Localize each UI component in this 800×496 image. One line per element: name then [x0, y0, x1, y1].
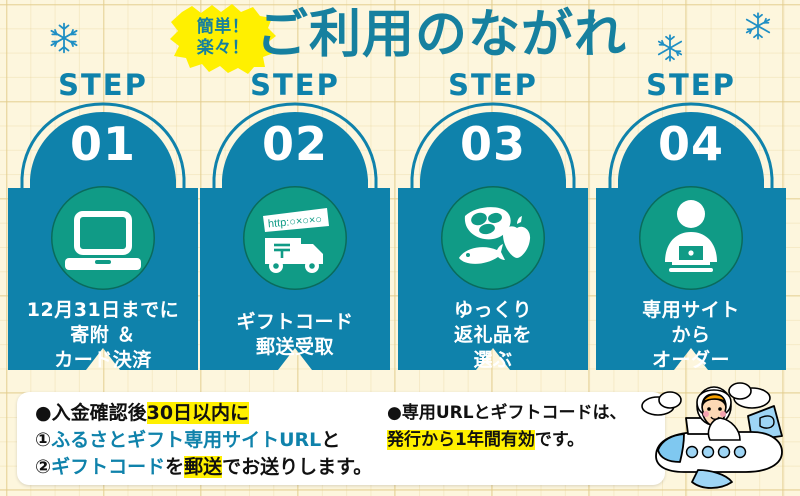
note-left-line-2-emph: ふるさとギフト専用サイトURL [51, 429, 321, 451]
note-right: ●専用URLとギフトコードは、 発行から1年間有効です。 [387, 400, 662, 454]
note-left-line-2-tail: と [321, 429, 340, 451]
caption-line: 12月31日までに [8, 298, 198, 323]
step-number-02: 02 [200, 120, 390, 168]
snowflake-icon [46, 20, 82, 60]
page-title: ご利用のながれ [256, 6, 676, 68]
step-label-01: STEP [8, 70, 198, 100]
caption-line: オーダー [596, 348, 786, 373]
badge-line-2: 楽々！ [197, 39, 250, 58]
person-laptop-icon [639, 186, 743, 290]
caption-line: 返礼品を [398, 323, 588, 348]
caption-line: 選ぶ [398, 348, 588, 373]
caption-line: 専用サイト [596, 298, 786, 323]
note-right-line-2: 発行から1年間有効です。 [387, 427, 662, 454]
note-left-line-3-mid: を [165, 456, 184, 478]
step-caption-02: ギフトコード 郵送受取 [200, 310, 390, 360]
pilot-airplane-icon [640, 378, 800, 496]
note-left-line-3: ②ギフトコードを郵送でお送りします。 [35, 454, 385, 481]
step-caption-03: ゆっくり 返礼品を 選ぶ [398, 298, 588, 373]
laptop-icon [51, 186, 155, 290]
note-left-marker-1: ① [35, 429, 51, 451]
step-panel-03: STEP 03 ゆっくり 返礼品を 選ぶ [398, 70, 588, 390]
note-left-line-3-tail: でお送りします。 [222, 456, 372, 478]
note-right-highlight: 発行から1年間有効 [387, 430, 535, 450]
caption-line: 寄附 ＆ [8, 323, 198, 348]
snowflake-icon [742, 10, 774, 46]
step-panel-02: STEP 02 http:○×○×○ ギフトコード 郵送受取 [200, 70, 390, 390]
note-left-line-3-highlight: 郵送 [184, 456, 222, 478]
note-left: ●入金確認後30日以内に ①ふるさとギフト専用サイトURLと ②ギフトコードを郵… [35, 400, 385, 481]
note-right-line-1: ●専用URLとギフトコードは、 [387, 400, 662, 427]
step-panel-04: STEP 04 専用サイト から オーダー [596, 70, 786, 390]
step-panel-01: STEP 01 12月31日までに 寄附 ＆ カード決済 [8, 70, 198, 390]
note-box: ●入金確認後30日以内に ①ふるさとギフト専用サイトURLと ②ギフトコードを郵… [17, 392, 665, 485]
note-left-line-1: ●入金確認後30日以内に [35, 400, 385, 427]
step-label-03: STEP [398, 70, 588, 100]
caption-line: ギフトコード [200, 310, 390, 335]
step-number-01: 01 [8, 120, 198, 168]
step-number-04: 04 [596, 120, 786, 168]
step-label-04: STEP [596, 70, 786, 100]
caption-line: 郵送受取 [200, 335, 390, 360]
step-label-02: STEP [200, 70, 390, 100]
caption-line: ゆっくり [398, 298, 588, 323]
step-caption-01: 12月31日までに 寄附 ＆ カード決済 [8, 298, 198, 373]
caption-line: から [596, 323, 786, 348]
note-left-line-2: ①ふるさとギフト専用サイトURLと [35, 427, 385, 454]
meat-fish-apple-icon [441, 186, 545, 290]
note-left-line-1-text: ●入金確認後 [35, 402, 147, 424]
note-left-marker-2: ② [35, 456, 51, 478]
step-number-03: 03 [398, 120, 588, 168]
note-left-line-3-emph: ギフトコード [51, 456, 165, 478]
caption-line: カード決済 [8, 348, 198, 373]
poster-canvas: 簡単！ 楽々！ ご利用のながれ STEP 01 12月31日までに 寄附 ＆ カ… [0, 0, 800, 496]
note-left-line-1-highlight: 30日以内に [147, 402, 249, 424]
note-right-line-2-tail: です。 [535, 430, 584, 450]
mail-truck-icon: http:○×○×○ [243, 186, 347, 290]
badge-line-1: 簡単！ [197, 18, 250, 37]
step-caption-04: 専用サイト から オーダー [596, 298, 786, 373]
